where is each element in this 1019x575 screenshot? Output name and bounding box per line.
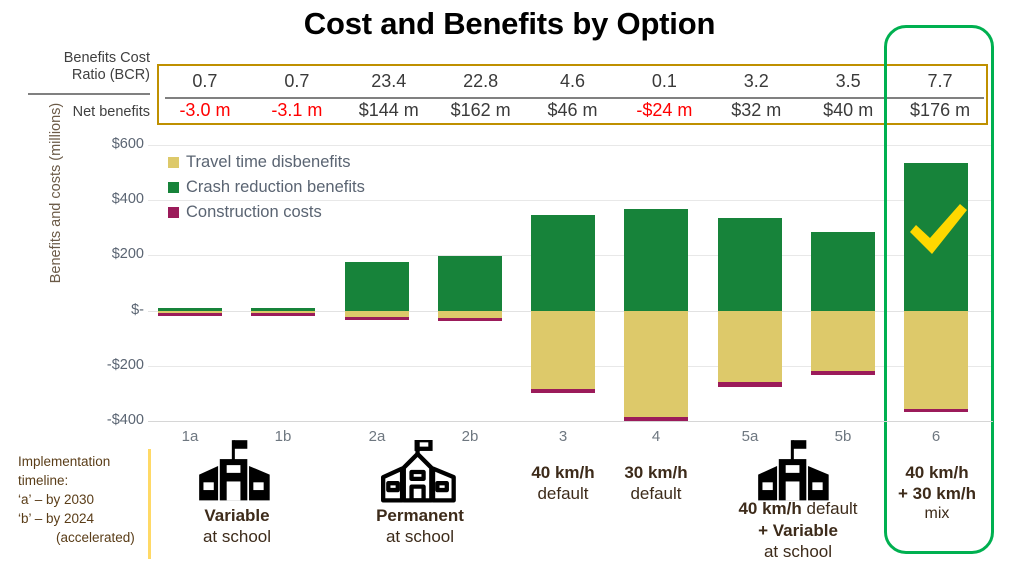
bcr-row-label: Benefits Cost Ratio (BCR) <box>0 50 150 84</box>
bcr-cell: 0.7 <box>251 71 343 92</box>
bcr-row-label-line1: Benefits Cost <box>64 50 150 66</box>
legend-swatch-construction <box>168 207 179 218</box>
bar-group[interactable] <box>531 145 595 421</box>
legend-item-label: Travel time disbenefits <box>186 153 350 172</box>
y-axis-ticks: $600$400$200$--$200-$400 <box>72 145 144 435</box>
bar-segment-travel-time <box>811 311 875 371</box>
y-axis-tick-label: -$400 <box>74 412 144 428</box>
impl-line5: (accelerated) <box>18 528 146 547</box>
bcr-cell: 0.7 <box>159 71 251 92</box>
legend-swatch-crash-reduction <box>168 182 179 193</box>
y-axis-title: Benefits and costs (millions) <box>48 93 64 293</box>
metrics-table: 0.70.723.422.84.60.13.23.57.7 -3.0 m-3.1… <box>157 64 988 125</box>
timeline-divider <box>148 449 151 559</box>
option-6-description-mix: mix <box>881 504 993 524</box>
net-benefit-cell: $162 m <box>435 100 527 121</box>
bcr-values-row: 0.70.723.422.84.60.13.23.57.7 <box>159 66 986 96</box>
y-axis-tick-label: -$200 <box>74 357 144 373</box>
bar-segment-crash-reduction <box>531 215 595 311</box>
bar-group[interactable] <box>811 145 875 421</box>
legend-item[interactable]: Travel time disbenefits <box>168 150 365 175</box>
option-2-description-normal: at school <box>340 526 500 547</box>
option-1-description-normal: at school <box>157 526 317 547</box>
option-5-line3: at school <box>700 541 896 562</box>
impl-line2: timeline: <box>18 473 68 488</box>
option-4-description-normal: default <box>596 483 716 504</box>
option-4-description-bold: 30 km/h <box>596 462 716 483</box>
bcr-cell: 22.8 <box>435 71 527 92</box>
bar-segment-construction <box>811 371 875 375</box>
net-benefit-cell: $32 m <box>710 100 802 121</box>
option-2-description: Permanentat school <box>340 505 500 547</box>
bar-group[interactable] <box>718 145 782 421</box>
bar-segment-travel-time <box>531 311 595 390</box>
y-axis-tick-label: $600 <box>74 136 144 152</box>
bar-segment-construction <box>904 409 968 413</box>
bcr-cell: 4.6 <box>527 71 619 92</box>
bar-segment-crash-reduction <box>438 256 502 311</box>
bar-segment-travel-time <box>438 311 502 318</box>
bar-segment-crash-reduction <box>718 218 782 310</box>
option-5-line1: 40 km/h default <box>700 498 896 520</box>
net-benefit-cell: $40 m <box>802 100 894 121</box>
school-outline-icon <box>378 440 464 509</box>
bar-group[interactable] <box>624 145 688 421</box>
bcr-cell: 23.4 <box>343 71 435 92</box>
legend-swatch-travel-time <box>168 157 179 168</box>
option-1-description-bold: Variable <box>157 505 317 526</box>
net-benefit-cell: $176 m <box>894 100 986 121</box>
net-benefit-cell: -3.1 m <box>251 100 343 121</box>
bar-segment-travel-time <box>718 311 782 383</box>
check-mark-icon <box>906 200 970 262</box>
bar-segment-construction <box>345 317 409 320</box>
net-benefit-cell: $46 m <box>527 100 619 121</box>
bcr-cell: 7.7 <box>894 71 986 92</box>
option-6-description: 40 km/h+ 30 km/hmix <box>881 462 993 524</box>
y-axis-tick-label: $400 <box>74 191 144 207</box>
option-2-description-bold: Permanent <box>340 505 500 526</box>
y-axis-tick-label: $200 <box>74 246 144 262</box>
net-benefits-values-row: -3.0 m-3.1 m$144 m$162 m$46 m-$24 m$32 m… <box>159 96 986 124</box>
bar-segment-construction <box>718 382 782 386</box>
bar-segment-construction <box>158 313 222 316</box>
net-benefit-cell: $144 m <box>343 100 435 121</box>
bcr-cell: 0.1 <box>618 71 710 92</box>
x-axis-category-label: 6 <box>911 428 961 445</box>
option-1-description: Variableat school <box>157 505 317 547</box>
x-axis-line <box>148 421 993 422</box>
bar-segment-crash-reduction <box>811 232 875 310</box>
legend-item[interactable]: Crash reduction benefits <box>168 175 365 200</box>
x-axis-category-label: 3 <box>538 428 588 445</box>
chart-root: Cost and Benefits by Option Benefits Cos… <box>0 0 1019 575</box>
implementation-timeline-note: Implementation timeline: ‘a’ – by 2030 ‘… <box>18 452 146 547</box>
legend-item-label: Crash reduction benefits <box>186 178 365 197</box>
legend-item-label: Construction costs <box>186 203 322 222</box>
chart-title: Cost and Benefits by Option <box>0 6 1019 42</box>
bar-group[interactable] <box>438 145 502 421</box>
legend-item[interactable]: Construction costs <box>168 200 365 225</box>
school-solid-icon <box>194 440 280 509</box>
chart-legend: Travel time disbenefitsCrash reduction b… <box>168 150 365 225</box>
bar-segment-travel-time <box>624 311 688 417</box>
net-benefit-cell: -3.0 m <box>159 100 251 121</box>
bar-segment-crash-reduction <box>345 262 409 310</box>
y-axis-tick-label: $- <box>74 302 144 318</box>
option-6-description-bold: 40 km/h <box>881 462 993 483</box>
option-4-description: 30 km/hdefault <box>596 462 716 504</box>
bar-segment-construction <box>531 389 595 393</box>
bar-segment-construction <box>251 313 315 316</box>
impl-line3: ‘a’ – by 2030 <box>18 492 94 507</box>
bcr-cell: 3.2 <box>710 71 802 92</box>
option-5-line2: + Variable <box>700 520 896 541</box>
option-6-description-bold2: + 30 km/h <box>881 483 993 504</box>
metrics-table-divider <box>165 97 984 99</box>
net-benefits-row-label: Net benefits <box>0 104 150 120</box>
bar-segment-travel-time <box>904 311 968 409</box>
impl-line1: Implementation <box>18 454 110 469</box>
bar-segment-construction <box>438 318 502 321</box>
impl-line4: ‘b’ – by 2024 <box>18 511 94 526</box>
option-5-description: 40 km/h default+ Variableat school <box>700 498 896 562</box>
net-benefit-cell: -$24 m <box>618 100 710 121</box>
bcr-row-label-line2: Ratio (BCR) <box>72 67 150 83</box>
header-label-divider <box>28 93 150 95</box>
bar-segment-crash-reduction <box>624 209 688 310</box>
bcr-cell: 3.5 <box>802 71 894 92</box>
bar-group[interactable] <box>904 145 968 421</box>
x-axis-category-label: 4 <box>631 428 681 445</box>
